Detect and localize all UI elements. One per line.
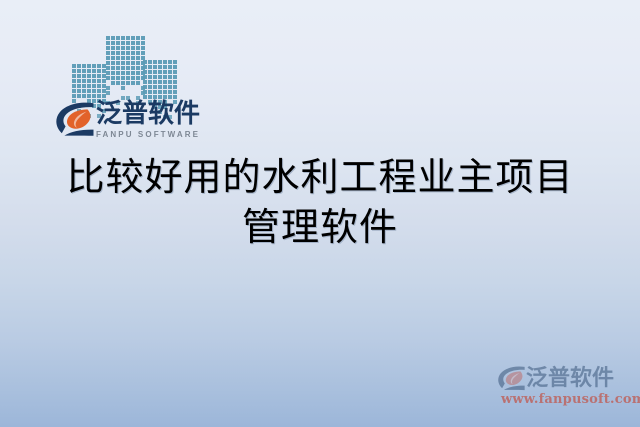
brand-name-cn: 泛普软件	[96, 101, 200, 127]
promo-banner: 泛普软件 FANPU SOFTWARE 比较好用的水利工程业主项目 管理软件 泛…	[0, 0, 640, 427]
watermark-logo-row: 泛普软件	[498, 366, 632, 391]
brand-name-en: FANPU SOFTWARE	[96, 130, 200, 139]
brand-text: 泛普软件 FANPU SOFTWARE	[96, 101, 200, 139]
page-title-line-2: 管理软件	[0, 202, 640, 252]
fanpu-leaf-mark-icon	[56, 102, 94, 137]
page-title-line-1: 比较好用的水利工程业主项目	[0, 152, 640, 202]
watermark: 泛普软件 www.fanpusoft.com	[498, 366, 632, 412]
watermark-url: www.fanpusoft.com	[501, 392, 632, 407]
brand-logo: 泛普软件 FANPU SOFTWARE	[56, 101, 200, 139]
watermark-brand-name: 泛普软件	[526, 368, 614, 390]
fanpu-leaf-mark-icon	[498, 366, 525, 391]
page-title: 比较好用的水利工程业主项目 管理软件	[0, 152, 640, 252]
